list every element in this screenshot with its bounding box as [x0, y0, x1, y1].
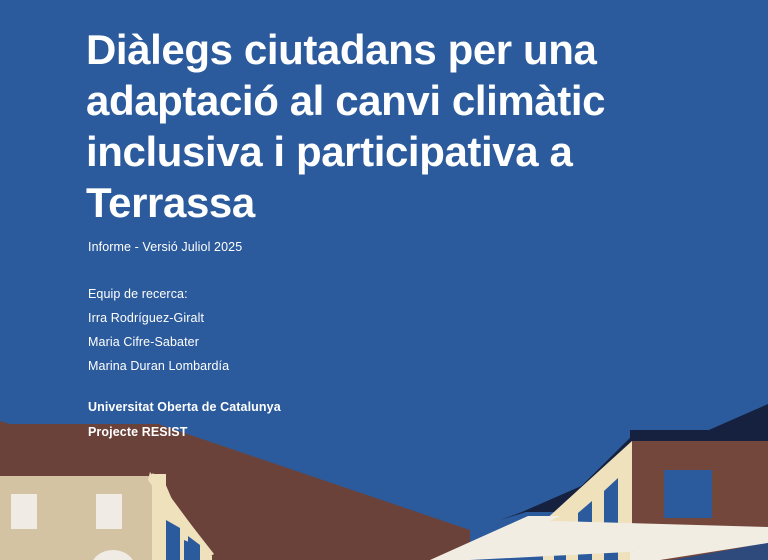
report-version-subtitle: Informe - Versió Juliol 2025: [88, 240, 242, 254]
research-team-block: Equip de recerca: Irra Rodríguez-Giralt …: [88, 287, 229, 373]
affiliation-block: Universitat Oberta de Catalunya Projecte…: [88, 400, 281, 439]
institution-name: Universitat Oberta de Catalunya: [88, 400, 281, 414]
report-cover-page: Diàlegs ciutadans per una adaptació al c…: [0, 0, 768, 560]
page-title: Diàlegs ciutadans per una adaptació al c…: [86, 24, 686, 228]
cover-text-layer: Diàlegs ciutadans per una adaptació al c…: [0, 0, 768, 560]
project-name: Projecte RESIST: [88, 425, 281, 439]
research-team-heading: Equip de recerca:: [88, 287, 229, 301]
team-member: Marina Duran Lombardía: [88, 359, 229, 373]
team-member: Maria Cifre-Sabater: [88, 335, 229, 349]
team-member: Irra Rodríguez-Giralt: [88, 311, 229, 325]
